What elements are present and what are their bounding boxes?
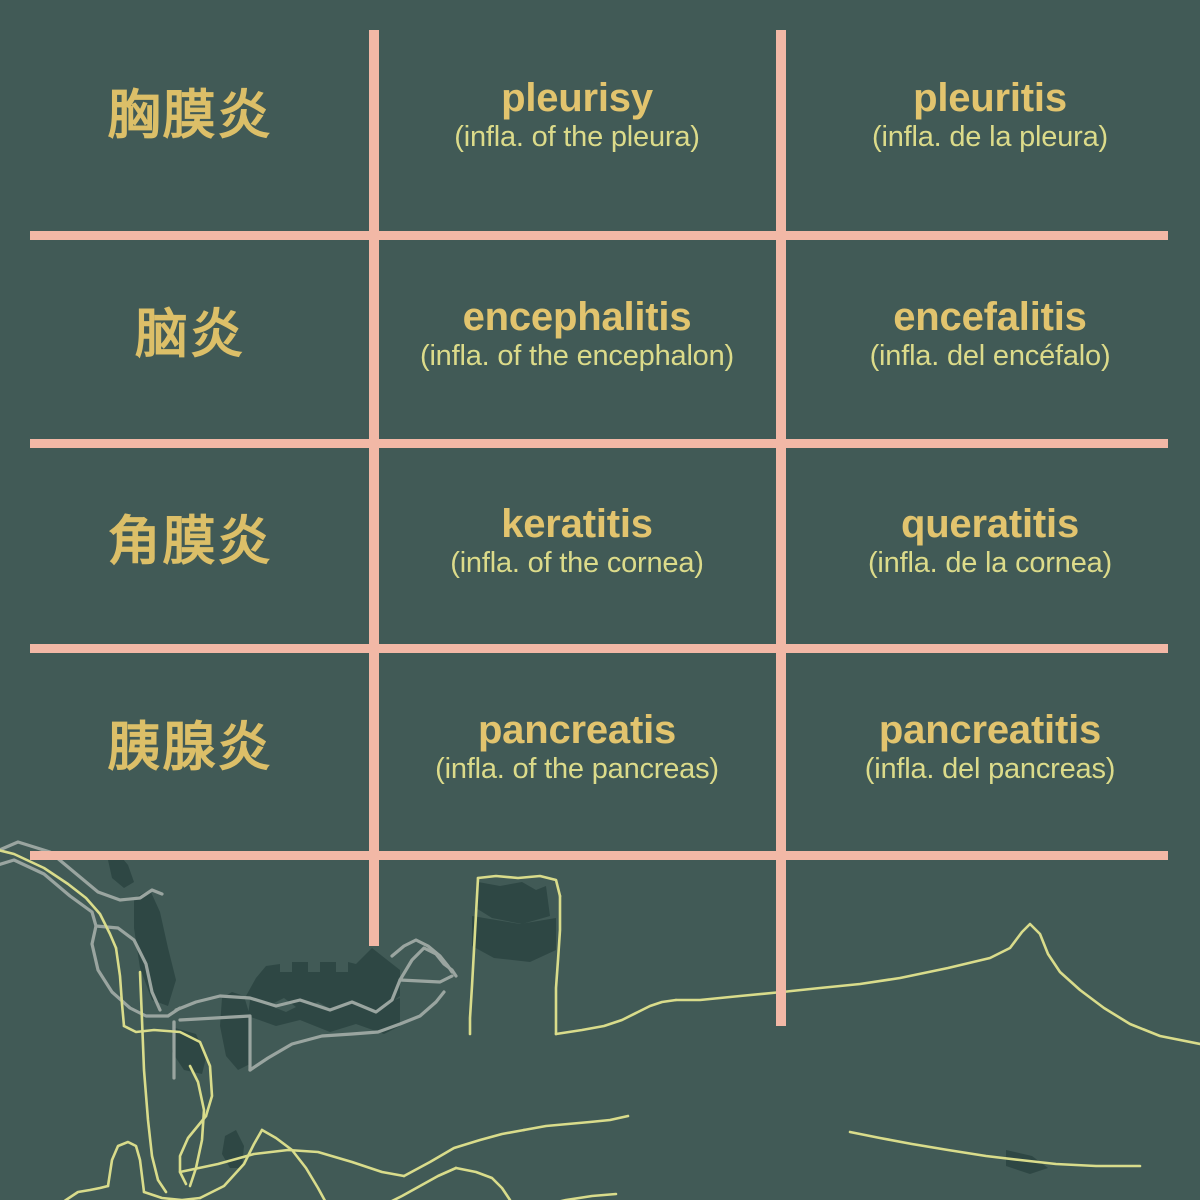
- chinese-term: 角膜炎: [108, 514, 273, 570]
- table-cell-chinese: 角膜炎: [0, 439, 374, 644]
- spanish-term: queratitis: [901, 503, 1079, 546]
- spanish-term: pancreatitis: [879, 709, 1101, 752]
- spanish-term: encefalitis: [893, 296, 1086, 339]
- table-cell-spanish: pleuritis (infla. de la pleura): [780, 0, 1200, 231]
- english-gloss: (infla. of the pleura): [454, 121, 699, 154]
- table-cell-spanish: encefalitis (infla. del encéfalo): [780, 231, 1200, 439]
- english-gloss: (infla. of the pancreas): [435, 753, 719, 786]
- spanish-gloss: (infla. de la pleura): [872, 121, 1108, 154]
- english-term: pancreatis: [478, 709, 676, 752]
- english-gloss: (infla. of the encephalon): [420, 340, 734, 373]
- spanish-gloss: (infla. de la cornea): [868, 547, 1112, 580]
- table-cell-english: pancreatis (infla. of the pancreas): [374, 644, 780, 851]
- table-cell-english: pleurisy (infla. of the pleura): [374, 0, 780, 231]
- english-term: keratitis: [501, 503, 653, 546]
- english-term: pleurisy: [501, 77, 653, 120]
- table-cell-spanish: queratitis (infla. de la cornea): [780, 439, 1200, 644]
- wall-outline-strokes: [0, 842, 456, 1078]
- chinese-term: 脑炎: [135, 307, 245, 363]
- spanish-gloss: (infla. del pancreas): [865, 753, 1116, 786]
- table-cell-chinese: 胸膜炎: [0, 0, 374, 231]
- chinese-term: 胰腺炎: [108, 720, 273, 776]
- table-cell-english: keratitis (infla. of the cornea): [374, 439, 780, 644]
- english-gloss: (infla. of the cornea): [450, 547, 704, 580]
- spanish-gloss: (infla. del encéfalo): [870, 340, 1111, 373]
- great-wall-illustration: [0, 820, 1200, 1200]
- vocabulary-table: 胸膜炎 pleurisy (infla. of the pleura) pleu…: [0, 0, 1200, 860]
- english-term: encephalitis: [463, 296, 692, 339]
- chinese-term: 胸膜炎: [108, 88, 273, 144]
- table-cell-chinese: 脑炎: [0, 231, 374, 439]
- table-cell-english: encephalitis (infla. of the encephalon): [374, 231, 780, 439]
- wall-shadow-shapes: [108, 853, 1048, 1174]
- spanish-term: pleuritis: [913, 77, 1067, 120]
- table-cell-chinese: 胰腺炎: [0, 644, 374, 851]
- ridge-contour-lines: [0, 848, 1200, 1200]
- table-cell-spanish: pancreatitis (infla. del pancreas): [780, 644, 1200, 851]
- slide-canvas: 胸膜炎 pleurisy (infla. of the pleura) pleu…: [0, 0, 1200, 1200]
